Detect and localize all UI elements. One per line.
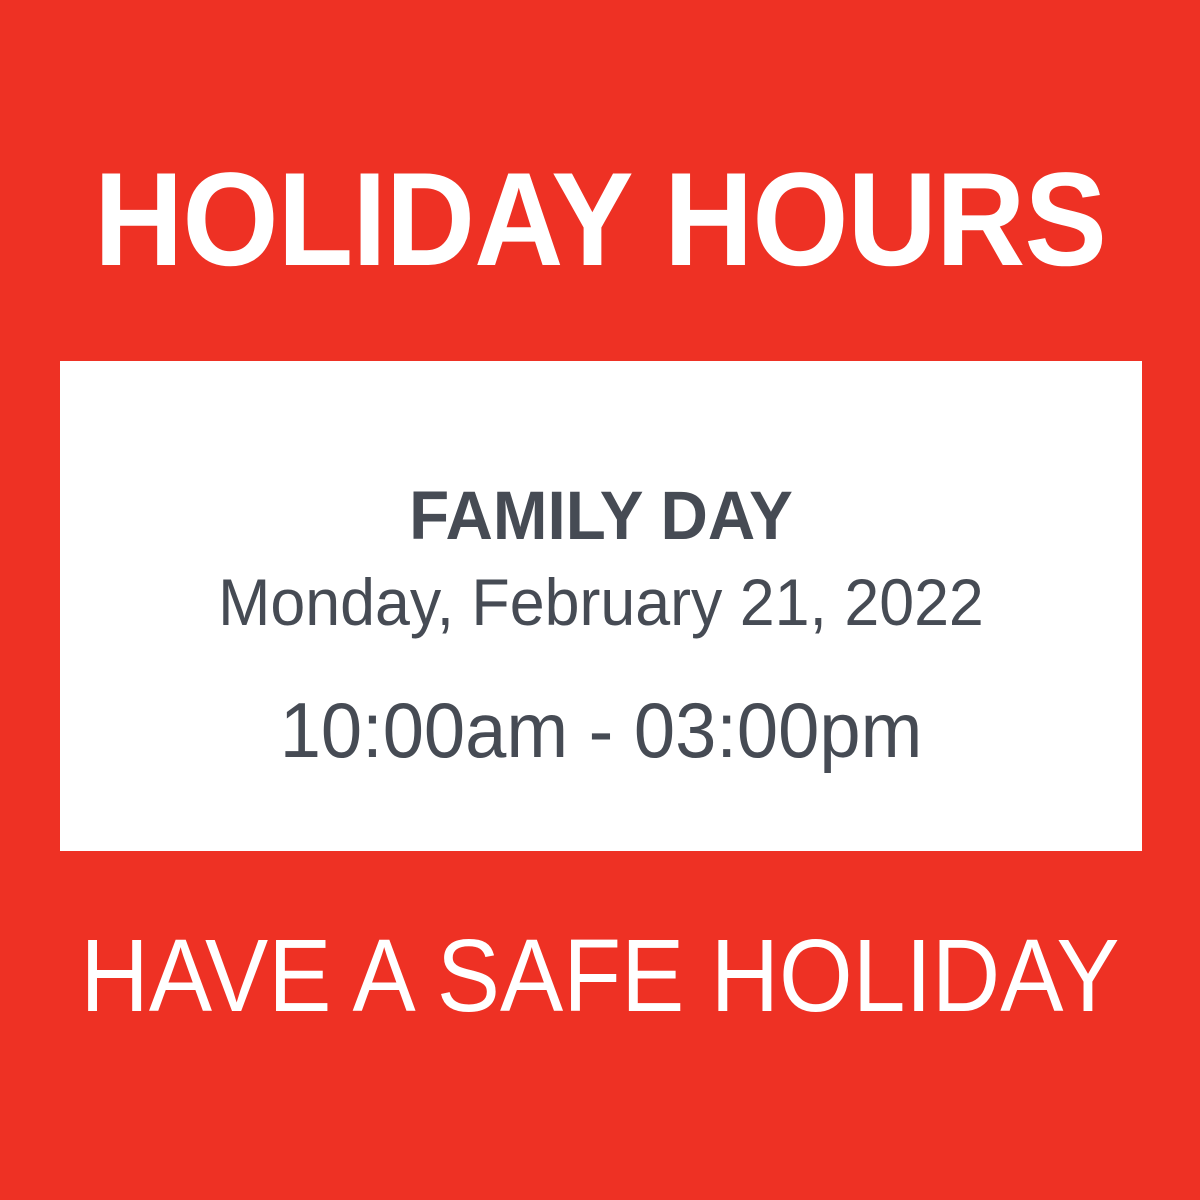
holiday-info-card-content: FAMILY DAY Monday, February 21, 2022 10:… [60,361,1142,851]
holiday-hours-poster: HOLIDAY HOURS FAMILY DAY Monday, Februar… [0,0,1200,1200]
holiday-info-card: FAMILY DAY Monday, February 21, 2022 10:… [60,361,1142,851]
page-title: HOLIDAY HOURS [42,150,1158,290]
event-hours: 10:00am - 03:00pm [87,691,1115,769]
footer-message: HAVE A SAFE HOLIDAY [48,915,1152,1035]
event-name: FAMILY DAY [87,481,1115,550]
event-date: Monday, February 21, 2022 [87,569,1115,635]
